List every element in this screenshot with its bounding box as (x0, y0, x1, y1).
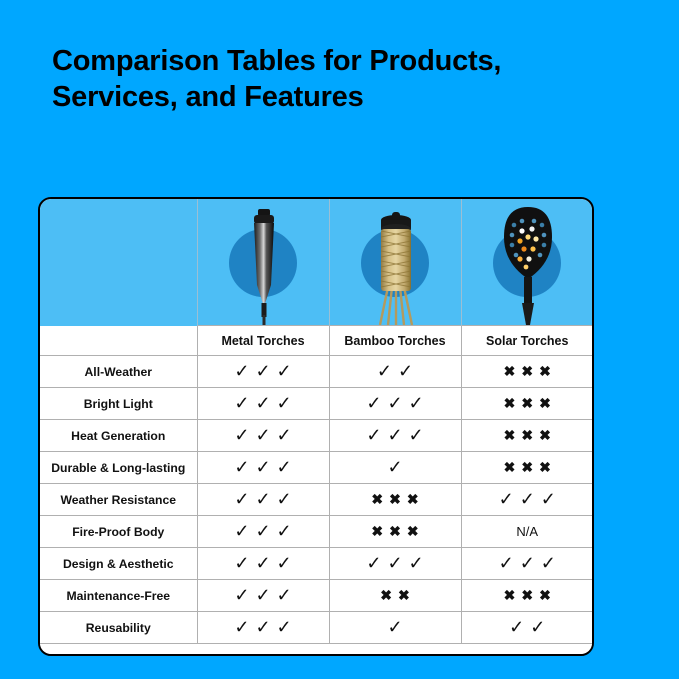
page-title: Comparison Tables for Products, Services… (52, 44, 612, 116)
check-icon: ✓ (277, 522, 292, 540)
rating-cell: ✓✓✓ (329, 420, 461, 452)
check-icon: ✓ (277, 426, 292, 444)
cross-icon: ✖ (504, 364, 516, 378)
column-header-solar: Solar Torches (461, 326, 593, 356)
check-icon: ✓ (530, 618, 545, 636)
rating-cell: N/A (461, 516, 593, 548)
table-body: Metal Torches Bamboo Torches Solar Torch… (40, 199, 593, 656)
check-icon: ✓ (234, 394, 249, 412)
check-icon: ✓ (387, 554, 402, 572)
rating-cell: ✓✓✓ (197, 388, 329, 420)
check-icon: ✓ (255, 458, 270, 476)
rating-cell: ✓✓✓ (197, 420, 329, 452)
footer-cell (329, 644, 461, 657)
cross-icon: ✖ (521, 364, 533, 378)
check-icon: ✓ (234, 586, 249, 604)
check-icon: ✓ (255, 554, 270, 572)
check-icon: ✓ (387, 394, 402, 412)
rating-cell: ✖✖✖ (461, 452, 593, 484)
check-icon: ✓ (255, 394, 270, 412)
rating-cell: ✓✓✓ (329, 388, 461, 420)
feature-label: All-Weather (40, 356, 197, 388)
cross-icon: ✖ (504, 396, 516, 410)
comparison-table-frame: Metal Torches Bamboo Torches Solar Torch… (38, 197, 594, 656)
check-icon: ✓ (409, 394, 424, 412)
rating-cell: ✓✓✓ (197, 548, 329, 580)
rating-cell: ✖✖✖ (461, 356, 593, 388)
check-icon: ✓ (277, 458, 292, 476)
rating-cell: ✖✖✖ (329, 516, 461, 548)
cross-icon: ✖ (539, 396, 551, 410)
footer-cell (40, 644, 197, 657)
check-icon: ✓ (255, 490, 270, 508)
check-icon: ✓ (255, 522, 270, 540)
rating-cell: ✓✓ (329, 356, 461, 388)
cross-icon: ✖ (521, 460, 533, 474)
table-row: Maintenance-Free✓✓✓✖✖✖✖✖ (40, 580, 593, 612)
rating-cell: ✓ (329, 452, 461, 484)
cross-icon: ✖ (504, 588, 516, 602)
table-row: All-Weather✓✓✓✓✓✖✖✖ (40, 356, 593, 388)
rating-cell: ✖✖✖ (329, 484, 461, 516)
check-icon: ✓ (366, 394, 381, 412)
rating-cell: ✓✓ (461, 612, 593, 644)
check-icon: ✓ (520, 554, 535, 572)
table-row: Reusability✓✓✓✓✓✓ (40, 612, 593, 644)
table-row: Fire-Proof Body✓✓✓✖✖✖N/A (40, 516, 593, 548)
cross-icon: ✖ (521, 428, 533, 442)
cross-icon: ✖ (504, 428, 516, 442)
cross-icon: ✖ (398, 588, 410, 602)
check-icon: ✓ (387, 618, 402, 636)
footer-cell (461, 644, 593, 657)
check-icon: ✓ (377, 362, 392, 380)
check-icon: ✓ (509, 618, 524, 636)
rating-cell: ✓✓✓ (461, 548, 593, 580)
feature-label: Durable & Long-lasting (40, 452, 197, 484)
feature-label: Heat Generation (40, 420, 197, 452)
check-icon: ✓ (277, 618, 292, 636)
cross-icon: ✖ (539, 588, 551, 602)
check-icon: ✓ (541, 554, 556, 572)
check-icon: ✓ (234, 426, 249, 444)
check-icon: ✓ (409, 554, 424, 572)
rating-cell: ✖✖✖ (461, 388, 593, 420)
rating-cell: ✓✓✓ (197, 612, 329, 644)
check-icon: ✓ (499, 554, 514, 572)
check-icon: ✓ (255, 586, 270, 604)
cross-icon: ✖ (521, 588, 533, 602)
check-icon: ✓ (234, 490, 249, 508)
metal-torch-icon (198, 199, 329, 325)
rating-cell: ✓✓✓ (197, 356, 329, 388)
feature-label: Weather Resistance (40, 484, 197, 516)
solar-torch-icon (462, 199, 594, 325)
rating-cell: ✓✓✓ (197, 516, 329, 548)
check-icon: ✓ (541, 490, 556, 508)
not-applicable-text: N/A (516, 525, 538, 538)
cross-icon: ✖ (380, 588, 392, 602)
header-corner-cell (40, 199, 197, 326)
check-icon: ✓ (366, 426, 381, 444)
cross-icon: ✖ (539, 364, 551, 378)
check-icon: ✓ (234, 554, 249, 572)
check-icon: ✓ (277, 394, 292, 412)
cross-icon: ✖ (407, 492, 419, 506)
table-row: Bright Light✓✓✓✓✓✓✖✖✖ (40, 388, 593, 420)
feature-column-header (40, 326, 197, 356)
rating-cell: ✓✓✓ (461, 484, 593, 516)
rating-cell: ✖✖✖ (461, 420, 593, 452)
cross-icon: ✖ (389, 492, 401, 506)
cross-icon: ✖ (389, 524, 401, 538)
column-header-row: Metal Torches Bamboo Torches Solar Torch… (40, 326, 593, 356)
check-icon: ✓ (234, 458, 249, 476)
check-icon: ✓ (387, 426, 402, 444)
check-icon: ✓ (387, 458, 402, 476)
rating-cell: ✓✓✓ (197, 484, 329, 516)
feature-label: Reusability (40, 612, 197, 644)
table-row: Design & Aesthetic✓✓✓✓✓✓✓✓✓ (40, 548, 593, 580)
check-icon: ✓ (234, 362, 249, 380)
product-image-cell-solar (461, 199, 593, 326)
check-icon: ✓ (277, 586, 292, 604)
check-icon: ✓ (277, 554, 292, 572)
table-footer-spacer (40, 644, 593, 657)
check-icon: ✓ (277, 362, 292, 380)
check-icon: ✓ (499, 490, 514, 508)
table-row: Heat Generation✓✓✓✓✓✓✖✖✖ (40, 420, 593, 452)
product-image-cell-metal (197, 199, 329, 326)
rating-cell: ✓✓✓ (197, 452, 329, 484)
cross-icon: ✖ (371, 524, 383, 538)
column-header-bamboo: Bamboo Torches (329, 326, 461, 356)
cross-icon: ✖ (539, 460, 551, 474)
check-icon: ✓ (366, 554, 381, 572)
table-row: Durable & Long-lasting✓✓✓✓✖✖✖ (40, 452, 593, 484)
check-icon: ✓ (409, 426, 424, 444)
bamboo-torch-icon (330, 199, 461, 325)
cross-icon: ✖ (521, 396, 533, 410)
check-icon: ✓ (398, 362, 413, 380)
column-header-metal: Metal Torches (197, 326, 329, 356)
footer-cell (197, 644, 329, 657)
rating-cell: ✓✓✓ (197, 580, 329, 612)
feature-label: Fire-Proof Body (40, 516, 197, 548)
cross-icon: ✖ (371, 492, 383, 506)
rating-cell: ✓✓✓ (329, 548, 461, 580)
check-icon: ✓ (255, 618, 270, 636)
product-image-row (40, 199, 593, 326)
check-icon: ✓ (277, 490, 292, 508)
rating-cell: ✓ (329, 612, 461, 644)
comparison-table: Metal Torches Bamboo Torches Solar Torch… (40, 199, 593, 656)
check-icon: ✓ (255, 362, 270, 380)
feature-label: Bright Light (40, 388, 197, 420)
feature-label: Design & Aesthetic (40, 548, 197, 580)
product-image-cell-bamboo (329, 199, 461, 326)
check-icon: ✓ (520, 490, 535, 508)
rating-cell: ✖✖ (329, 580, 461, 612)
cross-icon: ✖ (407, 524, 419, 538)
table-row: Weather Resistance✓✓✓✖✖✖✓✓✓ (40, 484, 593, 516)
rating-cell: ✖✖✖ (461, 580, 593, 612)
check-icon: ✓ (255, 426, 270, 444)
feature-label: Maintenance-Free (40, 580, 197, 612)
cross-icon: ✖ (504, 460, 516, 474)
check-icon: ✓ (234, 522, 249, 540)
check-icon: ✓ (234, 618, 249, 636)
cross-icon: ✖ (539, 428, 551, 442)
